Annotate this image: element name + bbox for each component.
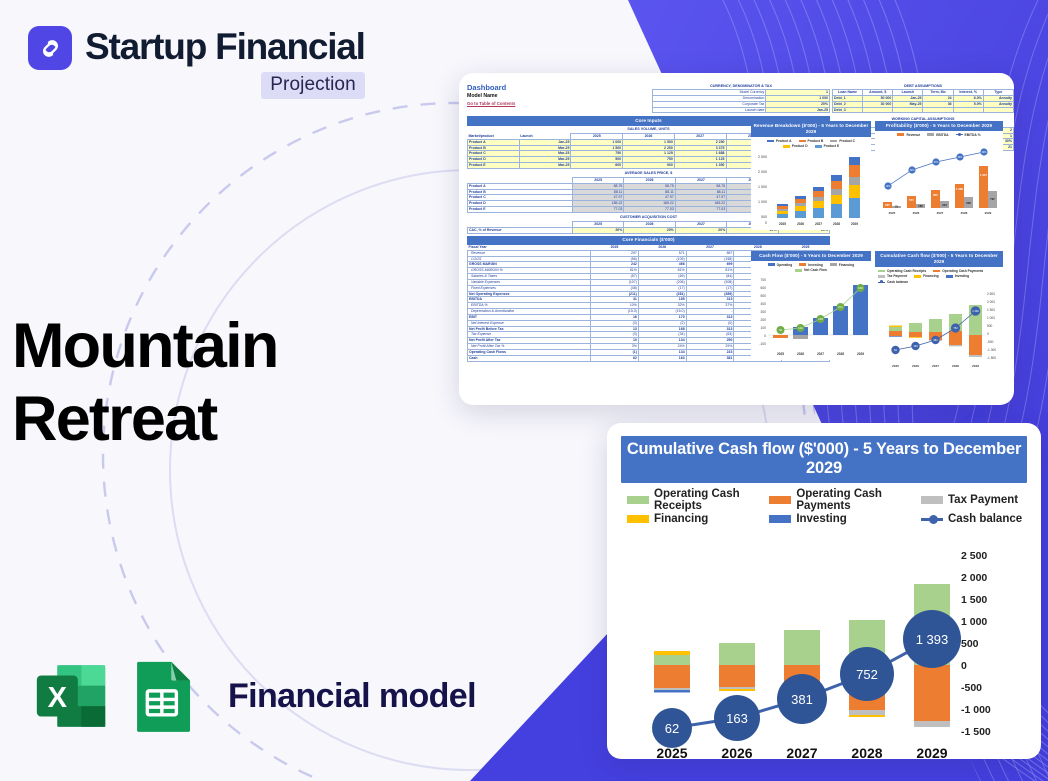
- svg-text:2 500: 2 500: [758, 155, 767, 159]
- chart-legend: Revenue EBITDA EBITDA %: [875, 131, 1003, 139]
- brand-title: Startup Financial: [85, 28, 365, 67]
- chart-plot-area: 2 500 2 000 1 500 1 000 500 0 -500 -1 00…: [621, 531, 1027, 759]
- y-tick: -1 000: [961, 704, 991, 716]
- legend-label: Investing: [808, 263, 822, 268]
- mini-chart-cash-flow[interactable]: Cash Flow ($'000) - 5 Years to December …: [751, 251, 871, 360]
- cell: 62: [591, 355, 639, 361]
- y-tick: 0: [961, 660, 967, 672]
- svg-text:300: 300: [760, 310, 766, 314]
- data-label: 62: [665, 721, 679, 736]
- x-tick: 2029: [851, 222, 858, 226]
- page-title: Mountain Retreat: [12, 310, 412, 456]
- legend-label: Operating: [777, 263, 793, 268]
- dashboard-title: Dashboard: [467, 83, 650, 93]
- legend-label: Operating Cash Receipts: [654, 488, 765, 512]
- data-label: 1 937: [980, 173, 987, 177]
- legend-label: Operating Cash Receipts: [887, 269, 926, 274]
- table-of-contents-link[interactable]: Go to Table of Contents: [467, 101, 650, 107]
- data-label: 371: [838, 305, 843, 309]
- cell[interactable]: 20%: [675, 227, 726, 233]
- row-label: Product E: [468, 207, 573, 213]
- svg-text:700: 700: [760, 278, 766, 282]
- cell[interactable]: 1 350: [674, 163, 726, 169]
- legend-label: Product B: [808, 139, 824, 144]
- data-label: 62: [779, 328, 783, 332]
- legend-label: Financing: [923, 274, 939, 279]
- cell: 77.03: [572, 207, 623, 213]
- data-label: 381: [791, 692, 813, 707]
- chart-plot: 10% 32% 37% 39% 40% 297 571 857 1 085 1 …: [875, 138, 1003, 218]
- cumulative-cashflow-svg: 2 500 2 000 1 500 1 000 500 0 -500 -1 00…: [621, 531, 1027, 759]
- data-label: 101: [798, 326, 803, 330]
- legend-label: EBITDA: [936, 133, 948, 138]
- x-tick: 2029: [972, 364, 979, 368]
- x-tick: 2027: [932, 364, 939, 368]
- x-tick: 2028: [961, 211, 968, 215]
- chart-legend: Operating Investing Financing Net Cash F…: [751, 261, 871, 274]
- svg-text:600: 600: [760, 286, 766, 290]
- chart-title: Profitability ($'000) - 5 Years to Decem…: [875, 121, 1003, 131]
- mini-chart-profitability[interactable]: Profitability ($'000) - 5 Years to Decem…: [875, 121, 1003, 218]
- data-label: 752: [856, 667, 878, 682]
- brand-header: Startup Financial Projection: [28, 26, 365, 99]
- table-row[interactable]: Debt_3: [833, 107, 1014, 113]
- svg-text:1 000: 1 000: [987, 316, 995, 320]
- svg-text:-1 500: -1 500: [987, 356, 996, 360]
- svg-text:500: 500: [760, 294, 766, 298]
- y-tick: 2 000: [961, 572, 987, 584]
- svg-text:0: 0: [765, 221, 767, 225]
- y-tick: 1 000: [961, 616, 987, 628]
- data-label: 185: [918, 204, 923, 208]
- svg-text:-100: -100: [759, 342, 766, 346]
- data-label: 163: [913, 344, 918, 348]
- cell[interactable]: 20%: [624, 227, 675, 233]
- legend-label: Operating Cash Payments: [796, 488, 917, 512]
- data-label: 381: [933, 338, 938, 342]
- legend-item-financing: Financing: [627, 513, 765, 525]
- x-tick: 2025: [656, 745, 687, 759]
- data-label: 163: [726, 711, 748, 726]
- x-tick: 2026: [721, 745, 752, 759]
- data-label: 31: [895, 205, 899, 209]
- cell[interactable]: [953, 107, 983, 113]
- svg-text:100: 100: [760, 326, 766, 330]
- svg-text:0: 0: [764, 334, 766, 338]
- x-tick: 2025: [777, 352, 784, 356]
- currency-assumptions-table[interactable]: Model Currency 1 Denomination 1 000 Corp…: [652, 89, 830, 113]
- data-label: 297: [885, 203, 890, 207]
- chart-plot: 700600500 400300200 1000-100: [751, 274, 871, 360]
- cumulative-cashflow-chart-card[interactable]: Cumulative Cash flow ($'000) - 5 Years t…: [607, 423, 1041, 759]
- svg-text:400: 400: [760, 302, 766, 306]
- cell[interactable]: 600: [571, 163, 623, 169]
- y-tick: 2 500: [961, 550, 987, 562]
- x-tick: 2025: [889, 211, 896, 215]
- cell[interactable]: [863, 107, 893, 113]
- x-tick: 2026: [797, 352, 804, 356]
- y-tick: 1 500: [961, 594, 987, 606]
- y-tick: -500: [961, 682, 982, 694]
- x-tick: 2025: [892, 364, 899, 368]
- x-tick: 2027: [817, 352, 824, 356]
- x-axis-ticks: 2025 2026 2027 2028 2029: [656, 745, 947, 759]
- legend-label: Financing: [839, 263, 855, 268]
- cell[interactable]: 900: [623, 163, 675, 169]
- svg-text:X: X: [48, 682, 68, 714]
- cell: 77.03: [675, 207, 726, 213]
- legend-label: Tax Payment: [887, 274, 907, 279]
- x-tick: 2026: [797, 222, 804, 226]
- svg-text:-500: -500: [987, 340, 994, 344]
- svg-text:-1 000: -1 000: [987, 348, 996, 352]
- x-tick: 2028: [952, 364, 959, 368]
- bar-2026: [719, 643, 755, 691]
- mini-chart-revenue-breakdown[interactable]: Revenue Breakdown ($'000) - 5 Years to D…: [751, 121, 871, 230]
- legend-label: Investing: [796, 513, 846, 525]
- cell: 77.03: [624, 207, 675, 213]
- cell[interactable]: [893, 107, 923, 113]
- legend-item-operating-cash-receipts: Operating Cash Receipts: [627, 488, 765, 512]
- bar-2025: [654, 651, 690, 693]
- google-sheets-icon: [120, 655, 202, 737]
- data-label: 1 085: [956, 187, 963, 191]
- svg-text:0: 0: [987, 332, 989, 336]
- legend-label: Cash balance: [887, 280, 908, 285]
- model-name-label: Model Name: [467, 93, 650, 100]
- y-tick: -1 500: [961, 726, 991, 738]
- svg-text:1 500: 1 500: [987, 308, 995, 312]
- x-tick: 2027: [937, 211, 944, 215]
- legend-item-tax-payment: Tax Payment: [921, 488, 1025, 512]
- legend-label: EBITDA %: [965, 133, 981, 138]
- svg-text:2 000: 2 000: [987, 300, 995, 304]
- x-tick: 2029: [857, 352, 864, 356]
- cell[interactable]: [923, 107, 953, 113]
- chart-title: Cumulative Cash flow ($'000) - 5 Years t…: [875, 251, 1003, 267]
- legend-label: Investing: [955, 274, 969, 279]
- legend-label: Product D: [792, 144, 808, 149]
- x-tick: 2027: [815, 222, 822, 226]
- legend-item-investing: Investing: [769, 513, 917, 525]
- row-label: Cash: [468, 355, 591, 361]
- chart-legend: Operating Cash Receipts Operating Cash P…: [621, 483, 1027, 527]
- legend-label: Operating Cash Payments: [942, 269, 983, 274]
- cell[interactable]: [983, 107, 1013, 113]
- y-tick: 500: [961, 638, 979, 650]
- cell: 163: [638, 355, 686, 361]
- format-badges: X Financial model: [30, 655, 476, 737]
- legend-label: Product A: [776, 139, 792, 144]
- chart-legend: Operating Cash Receipts Operating Cash P…: [875, 267, 1003, 286]
- linked-loop-logo-icon: [28, 26, 72, 70]
- svg-text:2 500: 2 500: [987, 292, 995, 296]
- svg-text:200: 200: [760, 318, 766, 322]
- legend-label: Product E: [824, 144, 840, 149]
- data-label: 640: [858, 286, 863, 290]
- x-tick: 2027: [786, 745, 817, 759]
- chart-plot: 2 5002 000 1 5001 000 5000 2025: [751, 150, 871, 230]
- legend-item-cash-balance: Cash balance: [921, 513, 1025, 525]
- svg-text:1 000: 1 000: [758, 200, 767, 204]
- legend-label: Financing: [654, 513, 708, 525]
- legend-label: Net Cash Flow: [804, 268, 827, 273]
- cell: 381: [686, 355, 734, 361]
- data-label: 571: [909, 198, 914, 202]
- cell[interactable]: Jan-25: [766, 107, 830, 113]
- chart-title: Cash Flow ($'000) - 5 Years to December …: [751, 251, 871, 261]
- x-tick: 2029: [985, 211, 992, 215]
- x-tick: 2025: [779, 222, 786, 226]
- cell[interactable]: Debt_3: [833, 107, 863, 113]
- data-label: 313: [942, 203, 947, 207]
- x-tick: 2028: [833, 222, 840, 226]
- legend-label: Tax Payment: [948, 494, 1018, 506]
- cell[interactable]: Product E: [468, 163, 520, 169]
- x-tick: 2028: [837, 352, 844, 356]
- y-axis-ticks: 2 500 2 000 1 500 1 000 500 0 -500 -1 00…: [961, 550, 991, 738]
- legend-item-operating-cash-payments: Operating Cash Payments: [769, 488, 917, 512]
- data-label: 1 393: [972, 309, 979, 313]
- mini-chart-cumulative-cash-flow[interactable]: Cumulative Cash flow ($'000) - 5 Years t…: [875, 251, 1003, 371]
- data-label: 218: [818, 317, 823, 321]
- data-label: 857: [933, 193, 938, 197]
- core-financials-header: Core Financials ($'000): [467, 236, 830, 245]
- format-label: Financial model: [228, 677, 476, 716]
- chart-legend: Product A Product B Product C Product D …: [751, 137, 871, 150]
- svg-text:500: 500: [761, 215, 767, 219]
- legend-label: Revenue: [906, 133, 920, 138]
- data-label: 506: [966, 201, 971, 205]
- data-label: 1 393: [916, 632, 949, 647]
- chart-title: Cumulative Cash flow ($'000) - 5 Years t…: [621, 436, 1027, 483]
- svg-text:500: 500: [987, 324, 993, 328]
- row-label: CAC, % of Revenue: [468, 227, 573, 233]
- legend-label: Product C: [839, 139, 855, 144]
- x-tick: 2026: [913, 211, 920, 215]
- dashboard-preview-card[interactable]: Dashboard Model Name Go to Table of Cont…: [459, 73, 1014, 405]
- cell: Launch date: [653, 107, 766, 113]
- svg-text:2 000: 2 000: [758, 170, 767, 174]
- x-tick: 2029: [916, 745, 947, 759]
- x-tick: 2028: [851, 745, 882, 759]
- brand-subtitle-badge: Projection: [261, 72, 365, 99]
- cell[interactable]: 20%: [572, 227, 623, 233]
- data-label: 797: [990, 197, 995, 201]
- cell[interactable]: Mar-25: [519, 163, 571, 169]
- x-tick: 2026: [912, 364, 919, 368]
- chart-title: Revenue Breakdown ($'000) - 5 Years to D…: [751, 121, 871, 137]
- chart-plot: 2 5002 0001 500 1 0005000 -500-1 000-1 5…: [875, 285, 1003, 371]
- data-label: 752: [953, 326, 958, 330]
- svg-text:1 500: 1 500: [758, 185, 767, 189]
- excel-icon: X: [30, 655, 112, 737]
- legend-label: Cash balance: [948, 513, 1022, 525]
- debt-assumptions-table[interactable]: Loan Name Amount, $ Launch Term, Mo Inte…: [832, 89, 1014, 113]
